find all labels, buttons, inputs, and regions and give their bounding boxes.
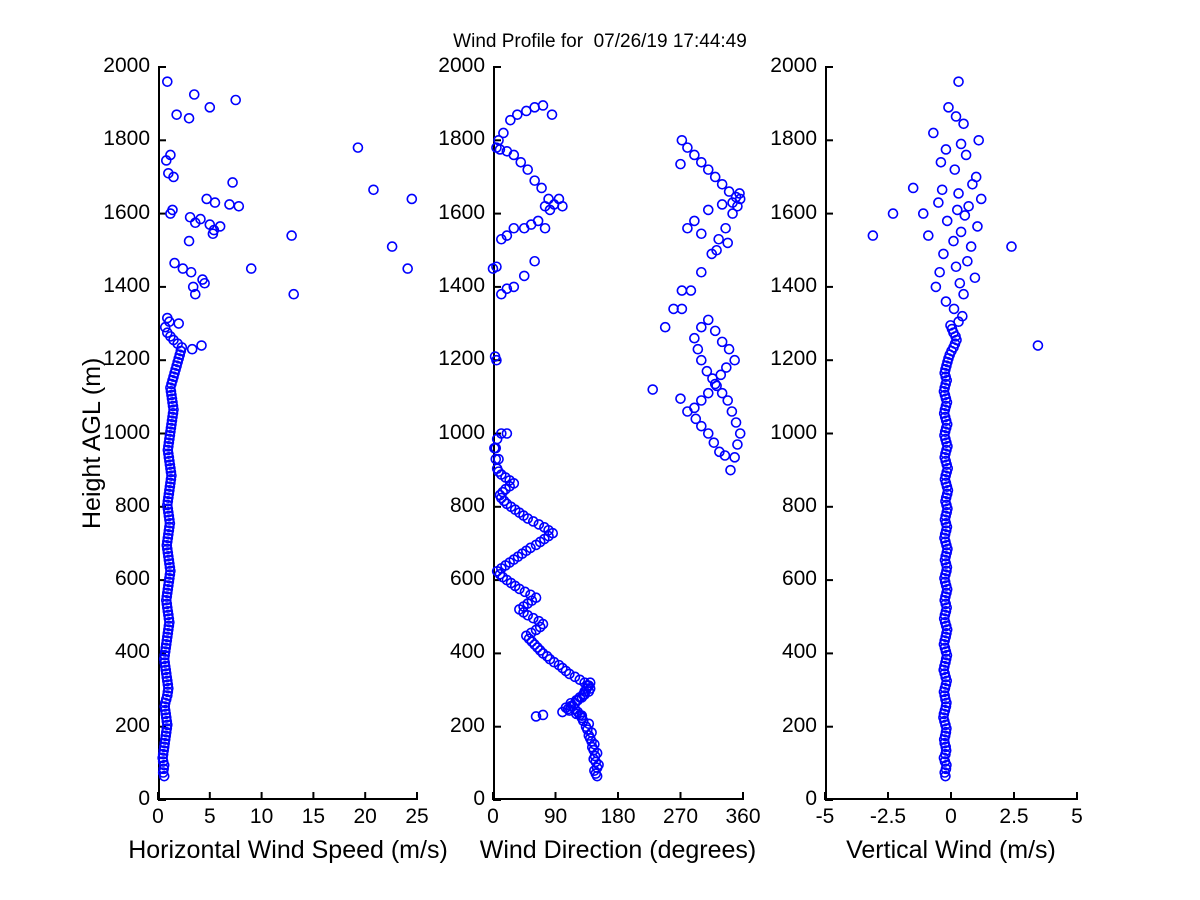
data-point-marker: [889, 209, 898, 218]
data-point-marker: [676, 160, 685, 169]
data-point-marker: [541, 224, 550, 233]
y-tick-label: 800: [727, 494, 817, 518]
data-point-marker: [973, 222, 982, 231]
y-tick-label: 1600: [395, 201, 485, 225]
y-tick-label: 0: [395, 787, 485, 811]
data-point-marker: [231, 95, 240, 104]
y-tick-label: 0: [60, 787, 150, 811]
data-point-marker: [718, 337, 727, 346]
data-point-marker: [709, 438, 718, 447]
data-point-marker: [939, 249, 948, 258]
y-tick-label: 1000: [727, 421, 817, 445]
data-point-marker: [677, 136, 686, 145]
data-point-marker: [234, 202, 243, 211]
data-point-marker: [205, 103, 214, 112]
data-point-marker: [943, 216, 952, 225]
data-point-marker: [247, 264, 256, 273]
data-point-marker: [548, 110, 557, 119]
data-point-marker: [676, 394, 685, 403]
y-tick-label: 1400: [395, 274, 485, 298]
data-point-marker: [697, 158, 706, 167]
data-point-marker: [935, 268, 944, 277]
y-tick-label: 1000: [60, 421, 150, 445]
data-point-marker: [369, 185, 378, 194]
y-tick-label: 600: [395, 567, 485, 591]
y-tick-label: 600: [60, 567, 150, 591]
data-point-marker: [941, 145, 950, 154]
data-point-marker: [950, 304, 959, 313]
y-tick-label: 2000: [727, 54, 817, 78]
data-point-marker: [962, 150, 971, 159]
data-point-marker: [353, 143, 362, 152]
data-point-marker: [537, 183, 546, 192]
data-point-marker: [693, 345, 702, 354]
data-point-marker: [721, 224, 730, 233]
data-point-marker: [530, 103, 539, 112]
y-tick-label: 1800: [727, 127, 817, 151]
data-point-marker: [697, 323, 706, 332]
data-point-marker: [228, 178, 237, 187]
data-point-marker: [952, 262, 961, 271]
y-tick-label: 400: [60, 640, 150, 664]
data-point-marker: [963, 257, 972, 266]
data-point-marker: [190, 90, 199, 99]
y-tick-label: 1200: [60, 347, 150, 371]
data-point-marker: [690, 216, 699, 225]
scatter-markers-wind-direction: [493, 67, 743, 800]
data-point-marker: [1007, 242, 1016, 251]
data-point-marker: [919, 209, 928, 218]
data-point-marker: [403, 264, 412, 273]
data-point-marker: [677, 286, 686, 295]
data-point-marker: [174, 319, 183, 328]
data-point-marker: [704, 389, 713, 398]
data-point-marker: [959, 119, 968, 128]
data-point-marker: [697, 396, 706, 405]
data-point-marker: [289, 290, 298, 299]
data-point-marker: [558, 202, 567, 211]
data-point-marker: [950, 165, 959, 174]
data-point-marker: [520, 271, 529, 280]
data-point-marker: [1033, 341, 1042, 350]
data-point-marker: [186, 213, 195, 222]
data-point-marker: [934, 198, 943, 207]
data-point-marker: [727, 407, 736, 416]
data-point-marker: [970, 273, 979, 282]
data-point-marker: [686, 286, 695, 295]
data-point-marker: [704, 429, 713, 438]
data-point-marker: [972, 172, 981, 181]
data-point-marker: [974, 136, 983, 145]
data-point-marker: [530, 257, 539, 266]
y-tick-label: 800: [60, 494, 150, 518]
data-point-marker: [977, 194, 986, 203]
data-point-marker: [170, 259, 179, 268]
y-tick-label: 200: [60, 714, 150, 738]
figure-title: Wind Profile for 07/26/19 17:44:49: [0, 31, 1200, 53]
data-point-marker: [530, 176, 539, 185]
data-point-marker: [516, 158, 525, 167]
data-point-marker: [931, 282, 940, 291]
y-tick-label: 1200: [727, 347, 817, 371]
data-point-marker: [726, 466, 735, 475]
y-tick-label: 400: [395, 640, 485, 664]
data-point-marker: [661, 323, 670, 332]
data-point-marker: [957, 227, 966, 236]
data-point-marker: [539, 101, 548, 110]
panel-wind-direction: [493, 67, 743, 800]
data-point-marker: [185, 114, 194, 123]
data-point-marker: [683, 224, 692, 233]
data-point-marker: [225, 200, 234, 209]
data-point-marker: [723, 238, 732, 247]
y-tick-label: 1200: [395, 347, 485, 371]
data-point-marker: [502, 429, 511, 438]
data-point-marker: [178, 264, 187, 273]
data-point-marker: [711, 326, 720, 335]
data-point-marker: [704, 315, 713, 324]
data-point-marker: [718, 180, 727, 189]
data-point-marker: [954, 189, 963, 198]
data-point-marker: [509, 224, 518, 233]
data-point-marker: [964, 202, 973, 211]
data-point-marker: [941, 297, 950, 306]
data-point-marker: [388, 242, 397, 251]
data-point-marker: [949, 237, 958, 246]
y-tick-label: 1600: [60, 201, 150, 225]
data-point-marker: [544, 194, 553, 203]
y-tick-label: 0: [727, 787, 817, 811]
data-point-marker: [287, 231, 296, 240]
data-point-marker: [909, 183, 918, 192]
scatter-markers-horizontal-wind: [158, 67, 417, 800]
y-tick-label: 2000: [395, 54, 485, 78]
data-point-marker: [202, 194, 211, 203]
x-axis-label-vertical-wind: Vertical Wind (m/s): [791, 836, 1111, 865]
y-tick-label: 1400: [727, 274, 817, 298]
panel-vertical-wind: [825, 67, 1077, 800]
y-tick-label: 1800: [395, 127, 485, 151]
data-point-marker: [163, 77, 172, 86]
data-point-marker: [197, 341, 206, 350]
y-tick-label: 200: [727, 714, 817, 738]
data-point-marker: [938, 185, 947, 194]
data-point-marker: [953, 205, 962, 214]
data-point-marker: [929, 128, 938, 137]
data-point-marker: [714, 235, 723, 244]
data-point-marker: [513, 110, 522, 119]
data-point-marker: [648, 385, 657, 394]
data-point-marker: [690, 150, 699, 159]
data-point-marker: [702, 367, 711, 376]
data-point-marker: [523, 165, 532, 174]
data-point-marker: [188, 345, 197, 354]
y-tick-label: 400: [727, 640, 817, 664]
data-point-marker: [868, 231, 877, 240]
scatter-markers-vertical-wind: [825, 67, 1077, 800]
y-tick-label: 1000: [395, 421, 485, 445]
data-point-marker: [185, 237, 194, 246]
y-tick-label: 1800: [60, 127, 150, 151]
data-point-marker: [955, 279, 964, 288]
data-point-marker: [952, 112, 961, 121]
data-point-marker: [499, 128, 508, 137]
data-point-marker: [936, 158, 945, 167]
data-point-marker: [954, 77, 963, 86]
data-point-marker: [711, 172, 720, 181]
data-point-marker: [704, 205, 713, 214]
data-point-marker: [716, 370, 725, 379]
data-point-marker: [690, 334, 699, 343]
data-point-marker: [967, 242, 976, 251]
x-axis-label-horizontal-wind: Horizontal Wind Speed (m/s): [128, 836, 448, 865]
data-point-marker: [697, 268, 706, 277]
y-tick-label: 800: [395, 494, 485, 518]
y-tick-label: 600: [727, 567, 817, 591]
data-point-marker: [959, 290, 968, 299]
panel-horizontal-wind-speed: [158, 67, 417, 800]
data-point-marker: [697, 229, 706, 238]
data-point-marker: [957, 139, 966, 148]
data-point-marker: [697, 422, 706, 431]
data-point-marker: [718, 200, 727, 209]
data-point-marker: [172, 110, 181, 119]
y-tick-label: 2000: [60, 54, 150, 78]
x-tick-label: 5: [1037, 805, 1117, 829]
x-axis-label-wind-direction: Wind Direction (degrees): [458, 836, 778, 865]
y-tick-label: 1600: [727, 201, 817, 225]
data-point-marker: [944, 103, 953, 112]
y-tick-label: 1400: [60, 274, 150, 298]
data-point-marker: [497, 290, 506, 299]
y-tick-label: 200: [395, 714, 485, 738]
wind-profile-figure: Wind Profile for 07/26/19 17:44:49 Heigh…: [0, 0, 1200, 900]
data-point-marker: [697, 356, 706, 365]
data-point-marker: [924, 231, 933, 240]
data-point-marker: [730, 453, 739, 462]
data-point-marker: [704, 165, 713, 174]
